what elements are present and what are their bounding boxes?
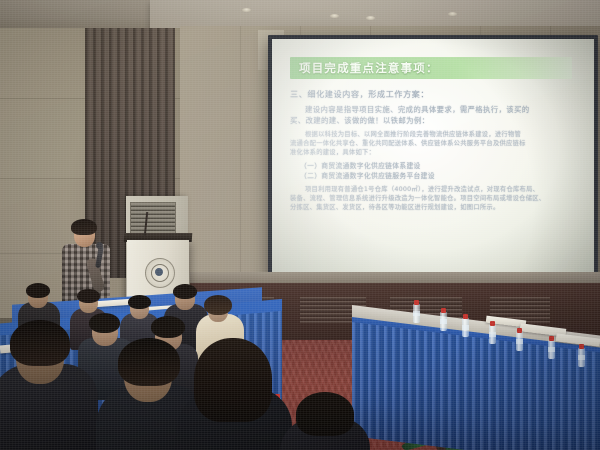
slide-text-line: 准化体系的建设，具体如下： [290, 148, 578, 157]
slide-title: 项目完成重点注意事项： [299, 60, 439, 76]
water-bottle[interactable] [516, 332, 523, 351]
slide-text-line: 装备、流程、管理信息系统进行升级改造为一体化智能仓。项目空间布局或增设仓储区、 [290, 194, 578, 203]
slide-text-line: 根据以科技为目标、以网全面推行阶段完善物流供应链体系建设，进行物管 [290, 130, 578, 139]
audience-hair [173, 284, 197, 299]
ceiling-light-icon [330, 14, 339, 18]
slide-text-line: 买、改建的建、该做的做！以铁邮为例： [290, 116, 578, 127]
water-bottle[interactable] [548, 340, 555, 359]
audience-hair [194, 338, 272, 422]
slide-title-bar: 项目完成重点注意事项： [290, 57, 572, 79]
ceiling-light-icon [366, 16, 375, 20]
audience-hair [204, 295, 232, 315]
water-bottle[interactable] [578, 348, 585, 367]
screen-surface: 项目完成重点注意事项： 三、细化建设内容，形成工作方案： 建设内容是指导项目实施… [272, 39, 594, 279]
audience-hair [128, 295, 151, 309]
water-bottle[interactable] [462, 318, 469, 337]
slide-text-line: 流通合配一体化共享仓、重化共同配送体系、供应链体系公共服务平台及供应链标 [290, 139, 578, 148]
ceiling-light-icon [242, 8, 251, 12]
audience-hair [26, 283, 50, 298]
water-bottle[interactable] [440, 312, 447, 331]
audience-hair [151, 316, 185, 338]
slide-body: 三、细化建设内容，形成工作方案： 建设内容是指导项目实施、完成的具体要求，需严格… [290, 88, 578, 212]
presentation-slide: 项目完成重点注意事项： 三、细化建设内容，形成工作方案： 建设内容是指导项目实施… [272, 39, 594, 279]
audience-hair [118, 338, 180, 386]
conference-room-photo: 项目完成重点注意事项： 三、细化建设内容，形成工作方案： 建设内容是指导项目实施… [0, 0, 600, 450]
projection-screen: 项目完成重点注意事项： 三、细化建设内容，形成工作方案： 建设内容是指导项目实施… [268, 35, 598, 283]
slide-text-line: 项目利用现有普通仓1号仓库（4000㎡），进行提升改造试点，对现有仓库布局、 [290, 185, 578, 194]
audience-hair [296, 392, 354, 436]
microphone-head-icon [96, 242, 103, 249]
water-bottle[interactable] [489, 325, 496, 344]
slide-text-line: 三、细化建设内容，形成工作方案： [290, 88, 578, 100]
slide-text-line: （一）商贸流通数字化供应链体系建设 [290, 161, 578, 171]
slide-text-line: 建设内容是指导项目实施、完成的具体要求，需严格执行，该买的 [290, 105, 578, 116]
audience-hair [77, 289, 100, 303]
slide-text-line: （二）商贸流通数字化供应链服务平台建设 [290, 171, 578, 181]
water-bottle[interactable] [413, 304, 420, 323]
audience-hair [10, 320, 70, 366]
audience-hair [89, 313, 120, 333]
institutional-emblem-icon [145, 258, 175, 288]
ceiling-light-icon [448, 12, 457, 16]
slide-text-line: 分拣区、集货区、发货区，待各区等功能区进行规划建设，如图口所示。 [290, 203, 578, 212]
presenter-hair [71, 219, 97, 235]
